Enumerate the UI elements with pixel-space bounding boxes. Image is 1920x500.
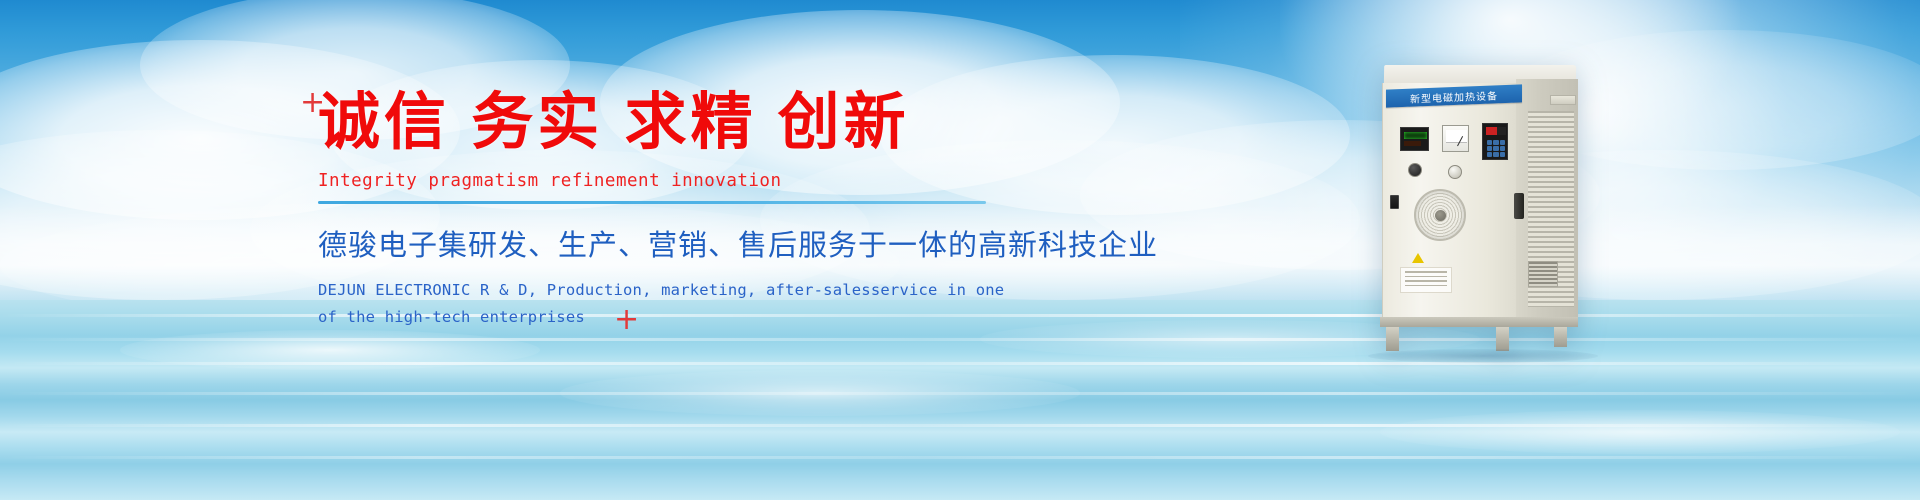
fan-grille-icon [1414, 189, 1466, 241]
machine-label-text: 新型电磁加热设备 [1410, 87, 1498, 105]
warning-triangle-icon [1412, 253, 1424, 263]
meter-needle [1457, 136, 1463, 146]
machine-leg [1496, 327, 1509, 351]
digital-readout [1404, 132, 1427, 139]
subtitle-english-line-1: DEJUN ELECTRONIC R & D, Production, mark… [318, 277, 1018, 304]
spec-sticker [1400, 267, 1452, 293]
banner-text-block: 诚信 务实 求精 创新 Integrity pragmatism refinem… [318, 88, 1018, 331]
divider [318, 201, 986, 204]
machine-lower-vent [1528, 261, 1558, 287]
fan-hub [1435, 210, 1446, 221]
power-switch [1390, 195, 1399, 209]
digital-controller [1400, 127, 1429, 151]
meter-face [1446, 130, 1467, 143]
machine-base [1380, 317, 1578, 327]
side-handle [1514, 193, 1524, 219]
product-machine-image: 新型电磁加热设备 [1378, 65, 1593, 350]
promo-banner: + + 诚信 务实 求精 创新 Integrity pragmatism ref… [0, 0, 1920, 500]
analog-meter [1442, 125, 1469, 152]
keypad-display [1486, 127, 1506, 135]
control-knob-dark [1408, 163, 1422, 177]
digital-readout-secondary [1404, 141, 1421, 146]
keypad-keys [1487, 140, 1505, 157]
headline-english: Integrity pragmatism refinement innovati… [318, 171, 1018, 191]
machine-side-box [1550, 95, 1576, 105]
machine-leg [1554, 327, 1567, 347]
subtitle-english-line-2: of the high-tech enterprises [318, 304, 1018, 331]
keypad-panel [1482, 123, 1508, 160]
headline-chinese: 诚信 务实 求精 创新 [318, 88, 1018, 157]
control-knob-light [1448, 165, 1462, 179]
machine-leg [1386, 327, 1399, 351]
machine-shadow [1368, 349, 1598, 363]
subtitle-chinese: 德骏电子集研发、生产、营销、售后服务于一体的高新科技企业 [318, 222, 1018, 264]
